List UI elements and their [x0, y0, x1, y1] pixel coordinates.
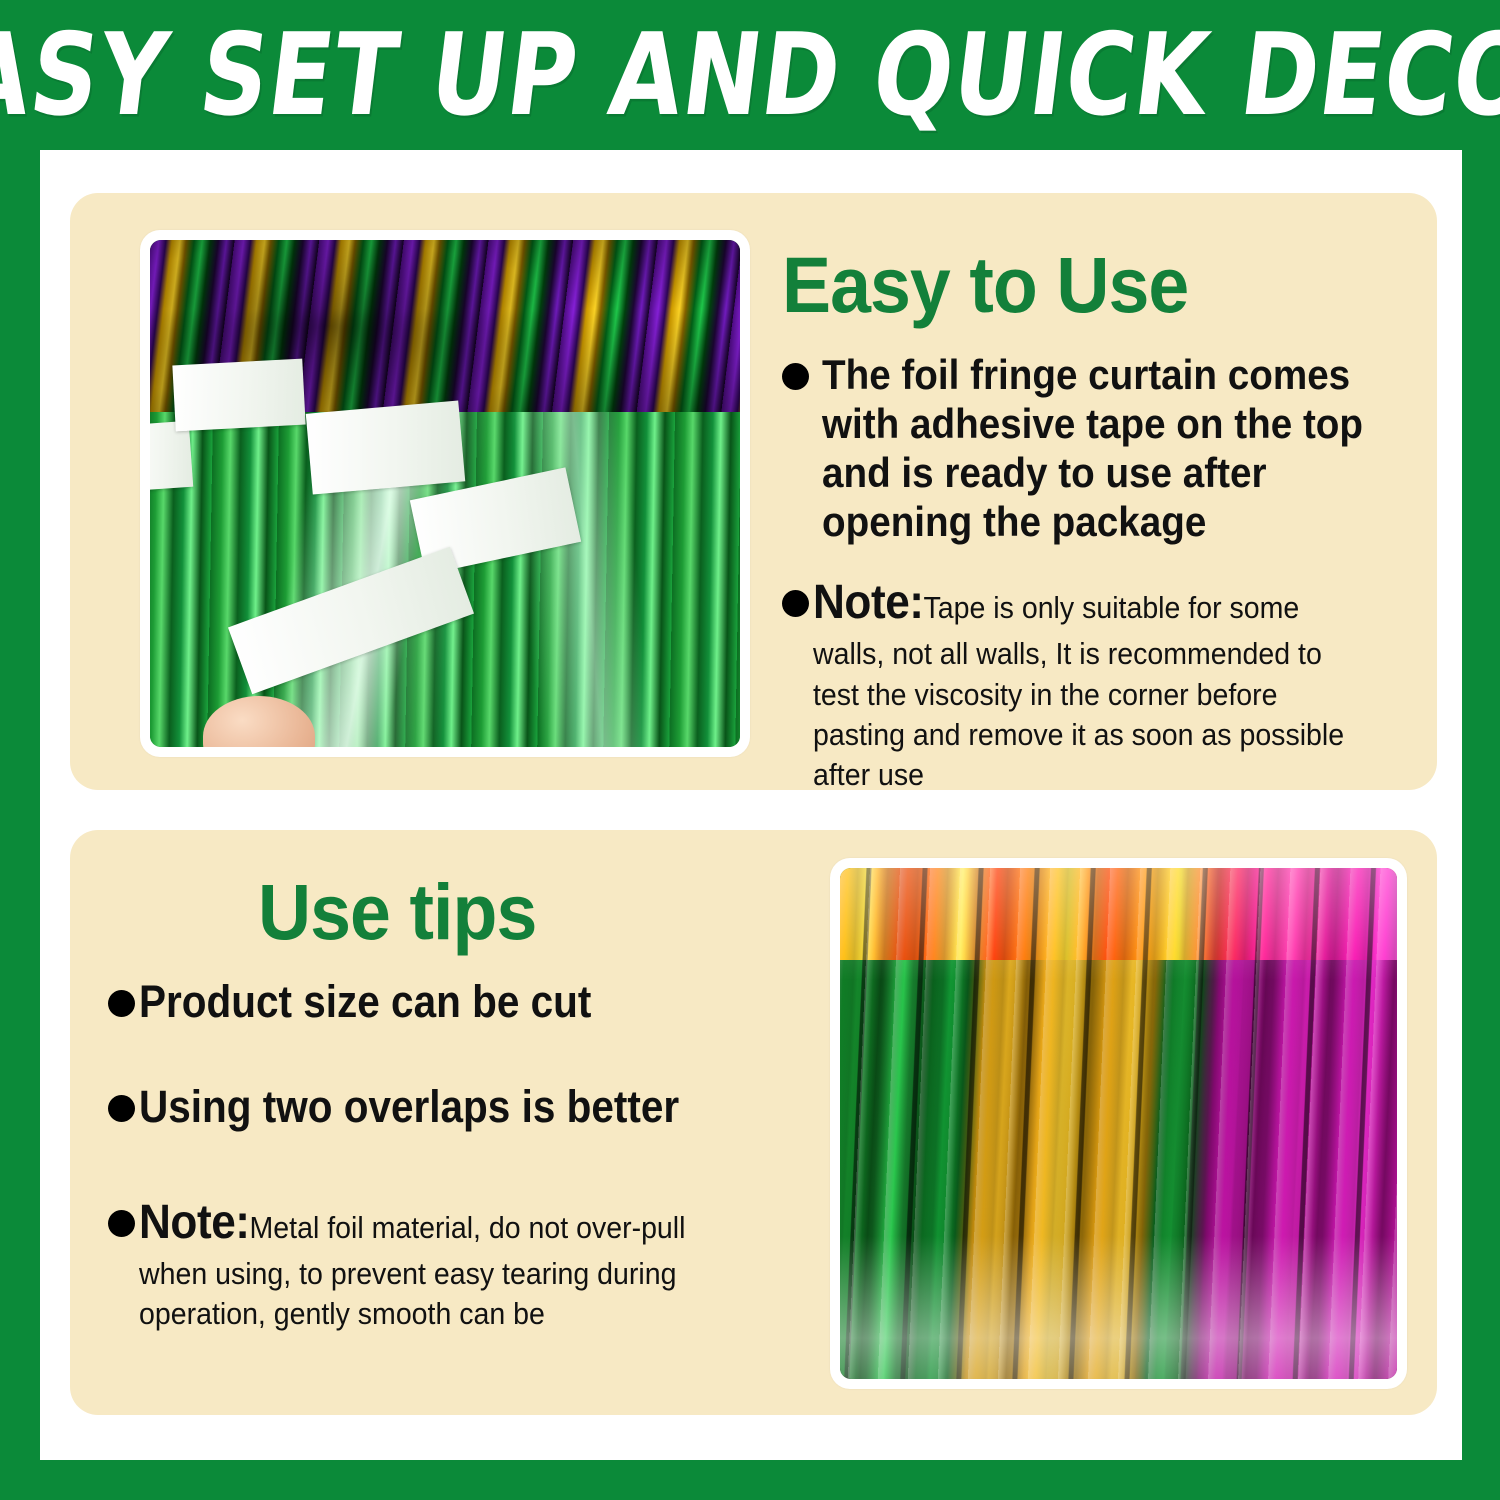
page-title: EASY SET UP AND QUICK DECOR: [0, 18, 1500, 131]
note-block: Note:Metal foil material, do not over-pu…: [139, 1192, 754, 1335]
bullet-item: Using two overlaps is better: [108, 1082, 808, 1132]
section-heading-use-tips: Use tips: [258, 872, 770, 953]
card-easy-to-use: Easy to Use The foil fringe curtain come…: [70, 193, 1437, 790]
note-item: Note:Tape is only suitable for some wall…: [782, 572, 1422, 796]
content-panel: Easy to Use The foil fringe curtain come…: [40, 150, 1462, 1460]
use-tips-text-column: Use tips Product size can be cut Using t…: [108, 872, 808, 1335]
bullet-text: Using two overlaps is better: [139, 1082, 679, 1132]
section-heading-easy-to-use: Easy to Use: [782, 245, 1377, 326]
bullet-item: The foil fringe curtain comes with adhes…: [782, 350, 1422, 547]
bullet-text: Product size can be cut: [139, 977, 591, 1027]
adhesive-tape-strip: [172, 358, 305, 431]
bullet-dot-icon: [782, 363, 809, 390]
bullet-text: The foil fringe curtain comes with adhes…: [822, 350, 1374, 547]
adhesive-tape-strip: [306, 401, 466, 495]
note-label: Note:: [139, 1196, 250, 1249]
bullet-dot-icon: [108, 1210, 135, 1237]
foil-gloss-layer: [840, 868, 1397, 1379]
photo-frame-use-tips: [830, 858, 1407, 1389]
bullet-item: Product size can be cut: [108, 977, 808, 1027]
bullet-dot-icon: [782, 590, 809, 617]
easy-to-use-text-column: Easy to Use The foil fringe curtain come…: [782, 245, 1422, 796]
spacer: [108, 1052, 808, 1082]
multicolor-foil-fringe-photo: [840, 868, 1397, 1379]
header-banner: EASY SET UP AND QUICK DECOR: [0, 0, 1500, 150]
note-block: Note:Tape is only suitable for some wall…: [813, 572, 1373, 796]
adhesive-tape-strip: [150, 420, 194, 490]
spacer: [108, 1158, 808, 1192]
note-item: Note:Metal foil material, do not over-pu…: [108, 1192, 808, 1335]
card-use-tips: Use tips Product size can be cut Using t…: [70, 830, 1437, 1415]
bullet-dot-icon: [108, 990, 135, 1017]
note-label: Note:: [813, 576, 924, 629]
green-foil-fringe-with-adhesive-tape-photo: [150, 240, 740, 747]
product-infographic-poster: EASY SET UP AND QUICK DECOR: [0, 0, 1500, 1500]
photo-frame-easy-to-use: [140, 230, 750, 757]
bullet-dot-icon: [108, 1095, 135, 1122]
